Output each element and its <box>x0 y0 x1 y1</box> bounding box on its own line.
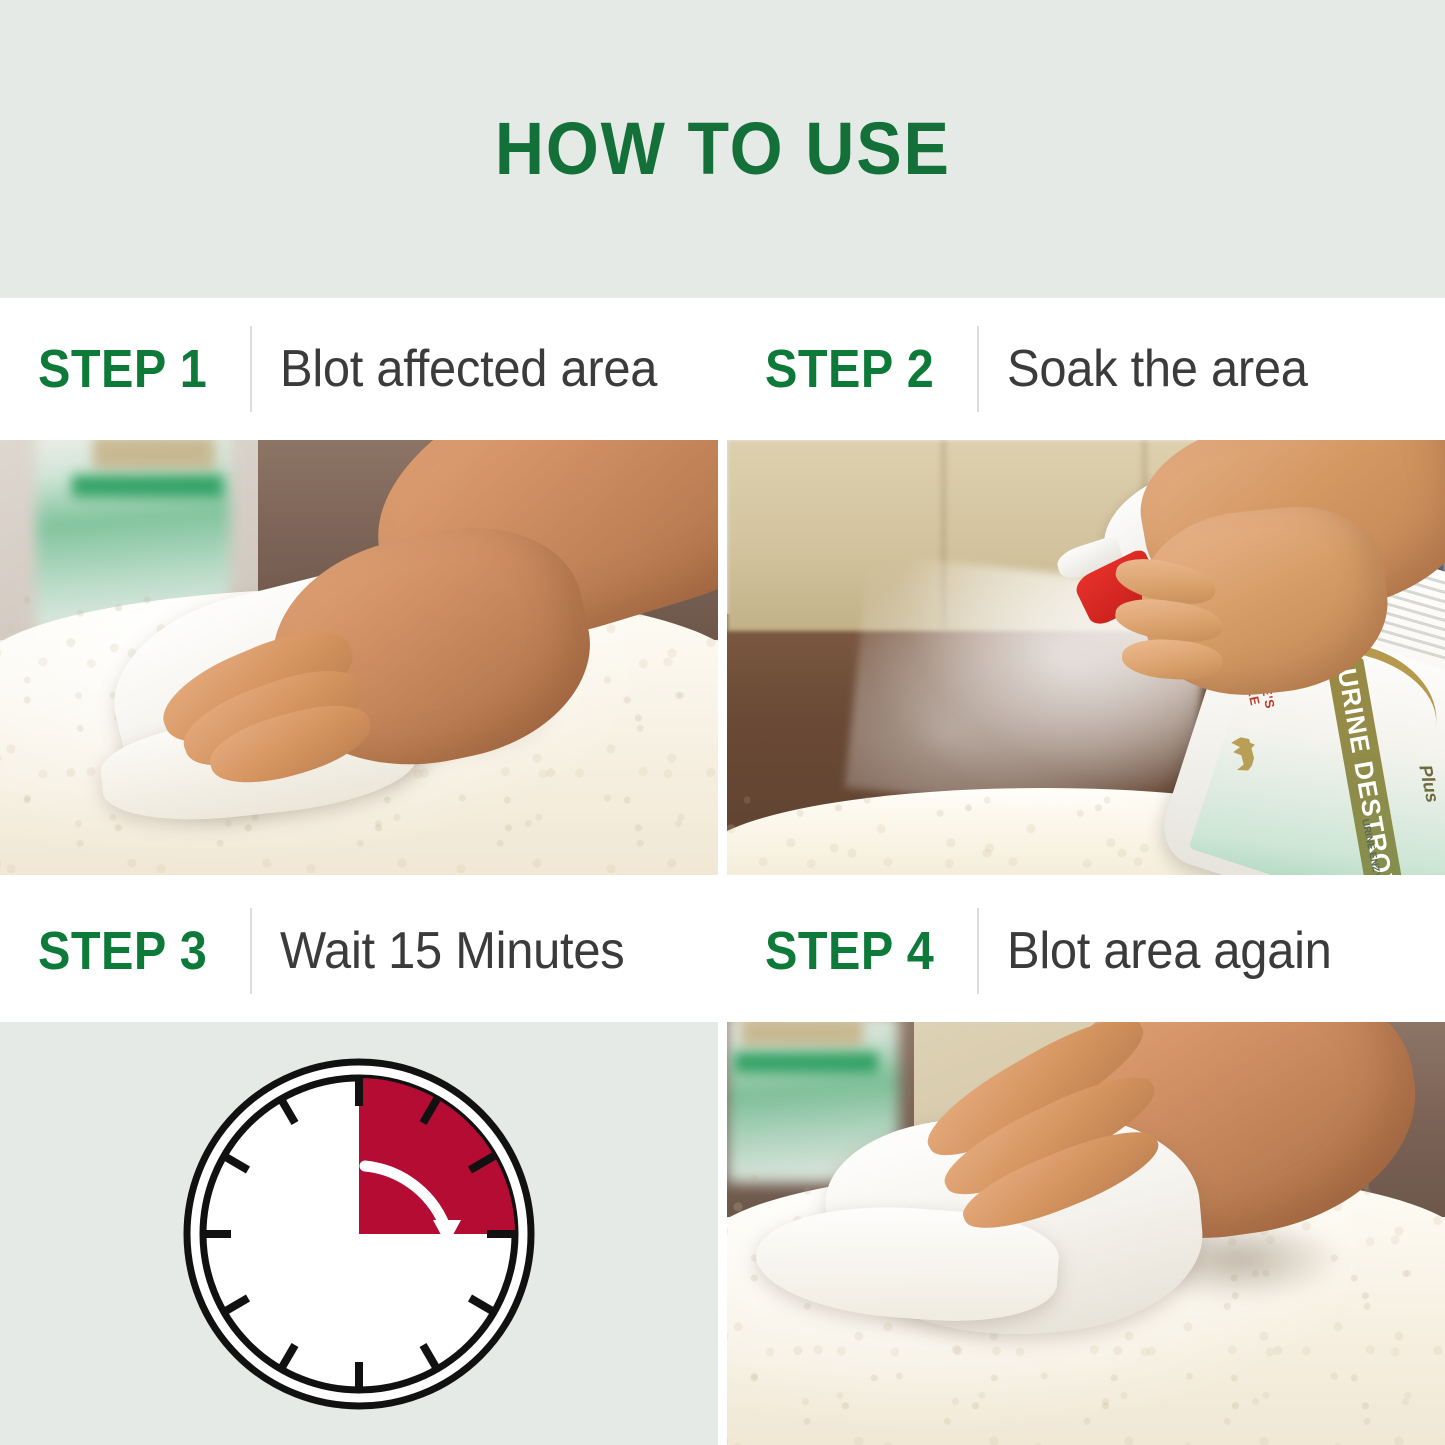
step-panel-1: STEP 1 Blot affected area <box>0 298 718 875</box>
step-3-header: STEP 3 Wait 15 Minutes <box>0 880 718 1022</box>
grid-gutter-vertical-bottom <box>718 880 727 1445</box>
step-4-description: Blot area again <box>1007 921 1332 981</box>
bottle-label-stripe <box>734 1052 878 1073</box>
step-panel-2: STEP 2 Soak the area <box>727 298 1445 875</box>
step-3-label: STEP 3 <box>38 920 207 982</box>
step-4-photo <box>727 1022 1445 1445</box>
step-1-scene <box>0 440 718 875</box>
step-panel-4: STEP 4 Blot area again <box>727 880 1445 1445</box>
step-4-scene <box>727 1022 1445 1445</box>
step-3-illustration <box>0 1022 718 1445</box>
step-1-header: STEP 1 Blot affected area <box>0 298 718 440</box>
step-2-scene: NATURE'S MIRACLE URINE DESTROYER Plus UR… <box>727 440 1445 875</box>
step-1-description: Blot affected area <box>280 339 657 399</box>
title-band: HOW TO USE <box>0 0 1445 298</box>
clock-wrap <box>0 1022 718 1445</box>
step-3-divider <box>250 908 252 994</box>
step-1-photo <box>0 440 718 875</box>
step-3-description: Wait 15 Minutes <box>280 921 624 981</box>
bottle-cap <box>741 1022 863 1047</box>
step-2-description: Soak the area <box>1007 339 1308 399</box>
infographic-root: HOW TO USE STEP 1 Blot affected area <box>0 0 1445 1445</box>
step-4-divider <box>977 908 979 994</box>
grid-gutter-vertical-top <box>718 298 727 875</box>
steps-grid: STEP 1 Blot affected area <box>0 298 1445 1445</box>
step-1-divider <box>250 326 252 412</box>
clock-icon <box>179 1054 539 1414</box>
step-2-divider <box>977 326 979 412</box>
step-2-photo: NATURE'S MIRACLE URINE DESTROYER Plus UR… <box>727 440 1445 875</box>
page-title: HOW TO USE <box>495 112 951 186</box>
sofa-seam-left <box>942 440 945 631</box>
step-2-label: STEP 2 <box>765 338 934 400</box>
step-panel-3: STEP 3 Wait 15 Minutes <box>0 880 718 1445</box>
step-2-header: STEP 2 Soak the area <box>727 298 1445 440</box>
step-4-header: STEP 4 Blot area again <box>727 880 1445 1022</box>
step-4-label: STEP 4 <box>765 920 934 982</box>
bottle-cap <box>93 440 215 470</box>
step-1-label: STEP 1 <box>38 338 207 400</box>
bottle-label-stripe <box>72 475 223 497</box>
